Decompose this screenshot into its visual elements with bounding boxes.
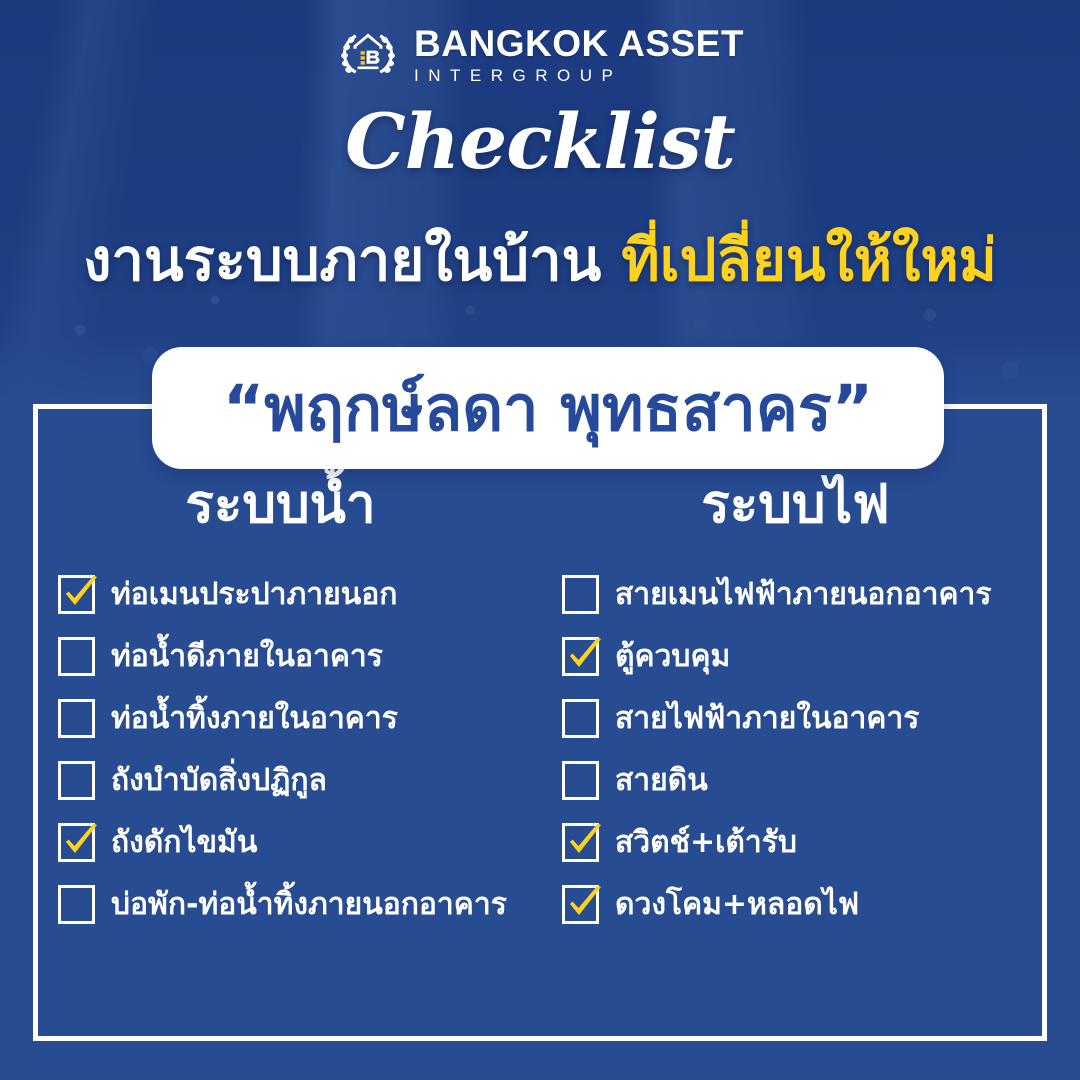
column-water-system: ระบบน้ำ ท่อเมนประปาภายนอกท่อน้ำดีภายในอา… [33, 404, 540, 1041]
checklist-item[interactable]: ดวงโคม+หลอดไฟ [562, 885, 1047, 924]
checklist-columns: ระบบน้ำ ท่อเมนประปาภายนอกท่อน้ำดีภายในอา… [33, 404, 1047, 1041]
checklist-item-label: สายเมนไฟฟ้าภายนอกอาคาร [615, 577, 991, 612]
brand-text-block: BANGKOK ASSET INTERGROUP [414, 25, 744, 84]
checkbox-checked[interactable] [562, 823, 599, 862]
checklist-item-label: ท่อน้ำดีภายในอาคาร [111, 639, 383, 674]
checkbox-checked[interactable] [58, 575, 95, 614]
checklist-item-label: ท่อน้ำทิ้งภายในอาคาร [111, 701, 398, 736]
brand-logo: BANGKOK ASSET INTERGROUP [0, 22, 1080, 86]
checklist-item-label: ถังดักไขมัน [111, 825, 257, 860]
house-laurel-logo-icon [336, 22, 400, 86]
subtitle-plain: งานระบบภายในบ้าน [83, 226, 621, 294]
checklist-item-label: ตู้ควบคุม [615, 639, 730, 674]
checkbox-checked[interactable] [562, 885, 599, 924]
checkbox-unchecked[interactable] [562, 699, 599, 738]
checklist-item[interactable]: สวิตช์+เต้ารับ [562, 823, 1047, 862]
subtitle-highlight: ที่เปลี่ยนให้ใหม่ [622, 226, 997, 294]
column-electrical-system: ระบบไฟ สายเมนไฟฟ้าภายนอกอาคารตู้ควบคุมสา… [540, 404, 1047, 1041]
checklist-item-label: ดวงโคม+หลอดไฟ [615, 887, 859, 922]
checklist-item[interactable]: ถังดักไขมัน [58, 823, 540, 862]
checklist-items-water: ท่อเมนประปาภายนอกท่อน้ำดีภายในอาคารท่อน้… [33, 575, 540, 924]
checklist-item-label: สวิตช์+เต้ารับ [615, 825, 797, 860]
checklist-item-label: บ่อพัก-ท่อน้ำทิ้งภายนอกอาคาร [111, 887, 507, 922]
checklist-item[interactable]: ตู้ควบคุม [562, 637, 1047, 676]
checkbox-unchecked[interactable] [58, 637, 95, 676]
checkbox-checked[interactable] [562, 637, 599, 676]
checkmark-icon [562, 819, 607, 864]
checklist-item[interactable]: ถังบำบัดสิ่งปฏิกูล [58, 761, 540, 800]
checkmark-icon [562, 881, 607, 926]
checklist-item[interactable]: สายดิน [562, 761, 1047, 800]
page-title: Checklist [0, 104, 1080, 180]
checkbox-unchecked[interactable] [58, 699, 95, 738]
checklist-item-label: ท่อเมนประปาภายนอก [111, 577, 397, 612]
project-name-badge: “พฤกษ์ลดา พุทธสาคร” [152, 347, 944, 469]
checklist-item[interactable]: ท่อเมนประปาภายนอก [58, 575, 540, 614]
checkmark-icon [58, 819, 103, 864]
checkbox-unchecked[interactable] [58, 885, 95, 924]
checkbox-unchecked[interactable] [58, 761, 95, 800]
checklist-item[interactable]: บ่อพัก-ท่อน้ำทิ้งภายนอกอาคาร [58, 885, 540, 924]
checklist-item[interactable]: สายเมนไฟฟ้าภายนอกอาคาร [562, 575, 1047, 614]
checklist-item-label: ถังบำบัดสิ่งปฏิกูล [111, 763, 327, 798]
checkbox-checked[interactable] [58, 823, 95, 862]
brand-name: BANGKOK ASSET [414, 25, 744, 62]
project-name: “พฤกษ์ลดา พุทธสาคร” [223, 377, 873, 440]
checkbox-unchecked[interactable] [562, 761, 599, 800]
checkbox-unchecked[interactable] [562, 575, 599, 614]
checklist-item[interactable]: ท่อน้ำทิ้งภายในอาคาร [58, 699, 540, 738]
checkmark-icon [58, 571, 103, 616]
page-subtitle: งานระบบภายในบ้าน ที่เปลี่ยนให้ใหม่ [0, 228, 1080, 293]
column-heading-electrical: ระบบไฟ [540, 478, 1047, 531]
checklist-item[interactable]: ท่อน้ำดีภายในอาคาร [58, 637, 540, 676]
checklist-item[interactable]: สายไฟฟ้าภายในอาคาร [562, 699, 1047, 738]
column-heading-water: ระบบน้ำ [33, 478, 540, 531]
brand-subname: INTERGROUP [414, 67, 622, 84]
checklist-item-label: สายไฟฟ้าภายในอาคาร [615, 701, 919, 736]
checklist-item-label: สายดิน [615, 763, 708, 798]
checklist-items-electrical: สายเมนไฟฟ้าภายนอกอาคารตู้ควบคุมสายไฟฟ้าภ… [540, 575, 1047, 924]
checkmark-icon [562, 633, 607, 678]
